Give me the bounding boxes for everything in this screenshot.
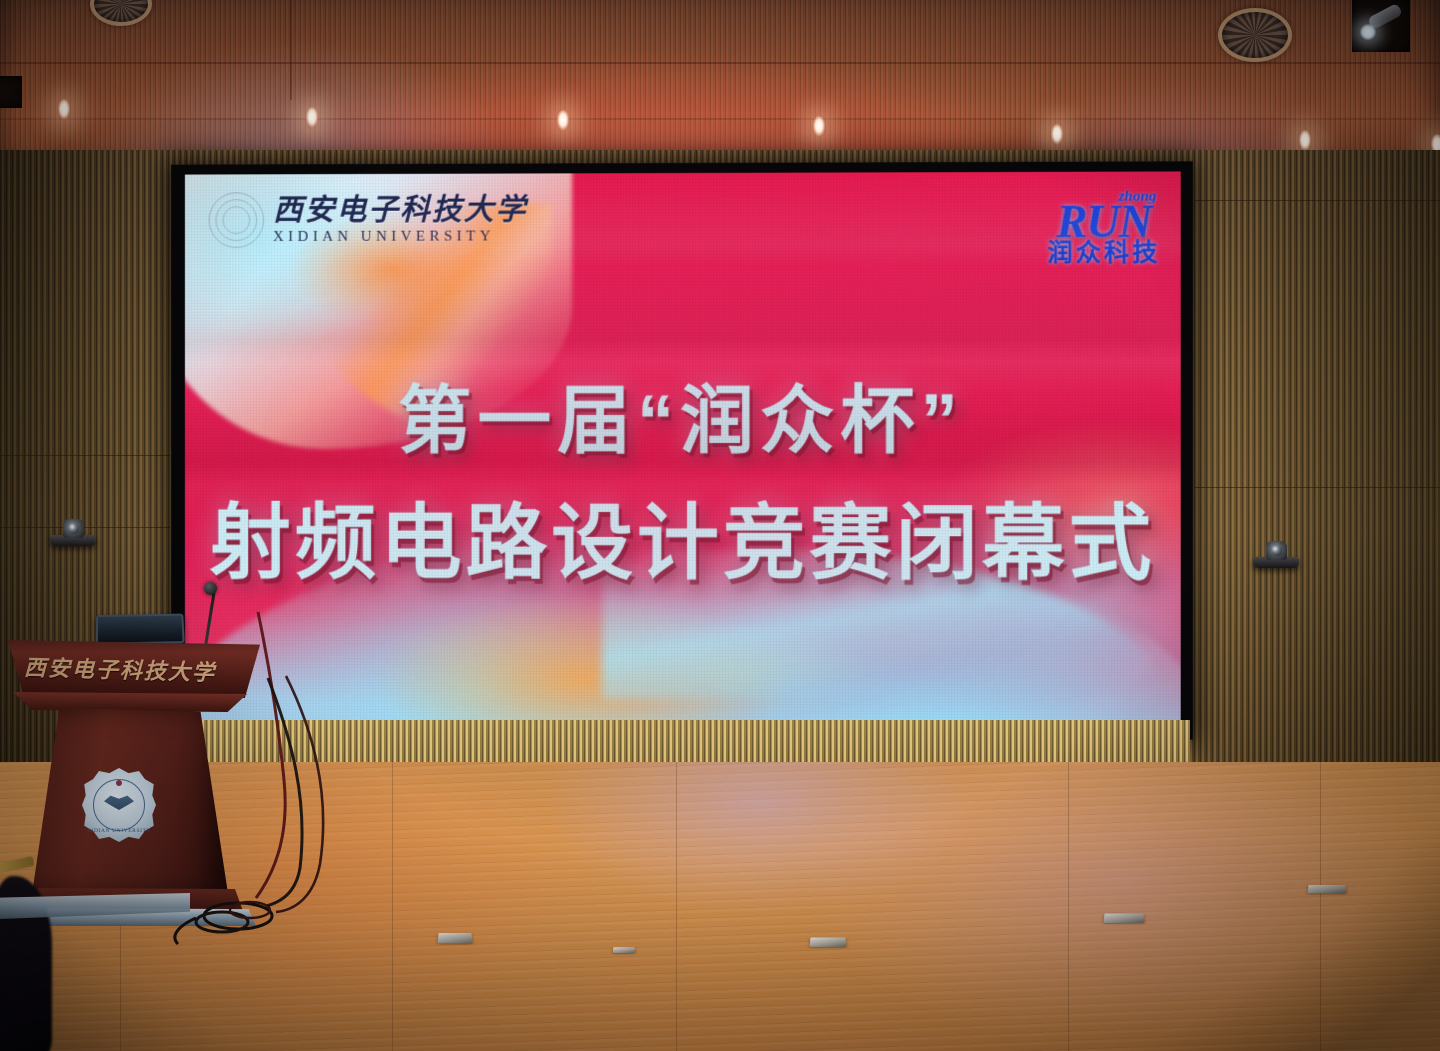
ceiling-spotlight-recess: [0, 76, 22, 108]
ceiling-downlight: [556, 110, 570, 132]
xidian-university-logo: 西安电子科技大学 XIDIAN UNIVERSITY: [209, 191, 528, 248]
runzhong-chinese: 润众科技: [1047, 241, 1160, 266]
floor-outlet-box: [1103, 913, 1144, 922]
runzhong-technology-logo: zhong RUN 润众科技: [1047, 190, 1160, 267]
ceiling-downlight: [57, 99, 71, 121]
auditorium-stage-scene: 西安电子科技大学 XIDIAN UNIVERSITY zhong RUN 润众科…: [0, 0, 1440, 1051]
floor-outlet-box: [1308, 885, 1347, 893]
event-title-line-2: 射频电路设计竞赛闭幕式: [185, 476, 1181, 596]
stage-cables: [0, 600, 520, 1051]
xidian-seal-icon: [209, 192, 264, 248]
xidian-logo-english: XIDIAN UNIVERSITY: [273, 229, 527, 245]
ceiling-downlight: [812, 116, 826, 138]
ceiling-air-vent: [1218, 8, 1292, 62]
event-title-block: 第一届“润众杯” 射频电路设计竞赛闭幕式: [185, 360, 1181, 595]
floor-outlet-box: [809, 937, 846, 946]
floor-outlet-box: [613, 947, 635, 953]
ceiling-spotlight-recess: [1352, 0, 1410, 52]
wall-shadow-right: [1180, 150, 1440, 790]
ceiling-downlight: [1050, 124, 1064, 146]
xidian-logo-chinese: 西安电子科技大学: [273, 195, 527, 226]
wall-camera-right: [1253, 542, 1299, 568]
ceiling-downlight: [305, 107, 319, 129]
wall-camera-left: [50, 520, 96, 546]
event-title-line-1: 第一届“润众杯”: [185, 360, 1181, 468]
ceiling-downlight: [1298, 130, 1312, 152]
gooseneck-microphone-head: [204, 582, 217, 595]
